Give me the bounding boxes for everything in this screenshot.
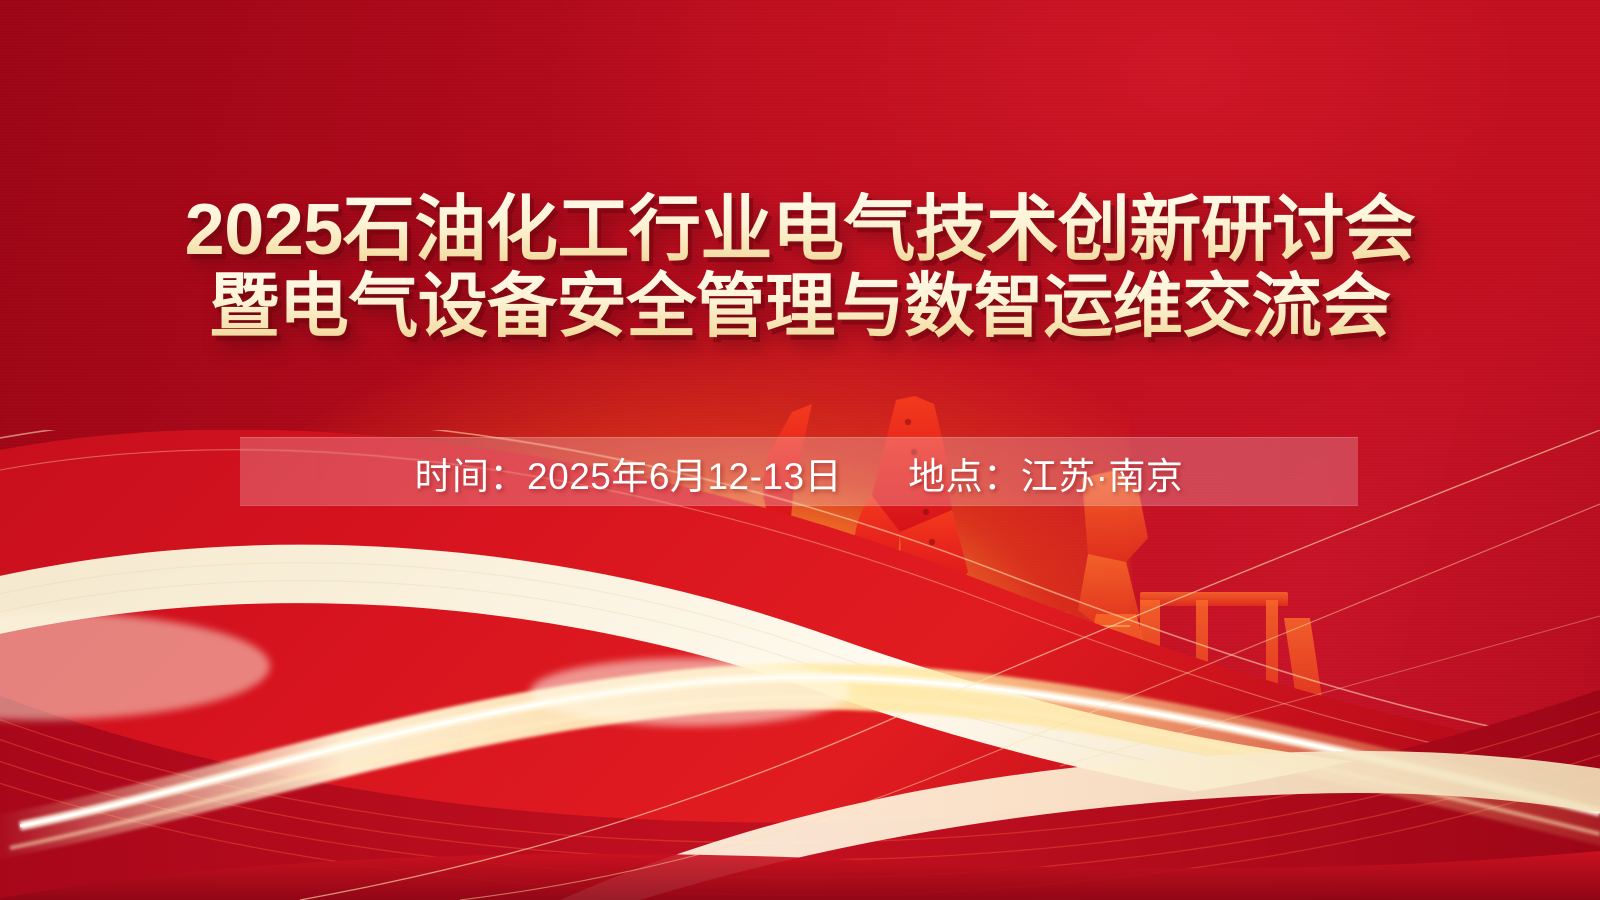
title-line-1: 2025石油化工行业电气技术创新研讨会 <box>0 192 1600 269</box>
event-location: 地点：江苏·南京 <box>908 446 1183 500</box>
event-info-row: 时间：2025年6月12-13日 地点：江苏·南京 <box>415 446 1184 500</box>
banner-title: 2025石油化工行业电气技术创新研讨会 暨电气设备安全管理与数智运维交流会 <box>0 192 1600 344</box>
event-info-bar: 时间：2025年6月12-13日 地点：江苏·南京 <box>240 437 1358 506</box>
title-line-2: 暨电气设备安全管理与数智运维交流会 <box>0 269 1600 344</box>
conference-banner: 2025石油化工行业电气技术创新研讨会 暨电气设备安全管理与数智运维交流会 时间… <box>0 0 1600 900</box>
event-date: 时间：2025年6月12-13日 <box>415 446 843 500</box>
